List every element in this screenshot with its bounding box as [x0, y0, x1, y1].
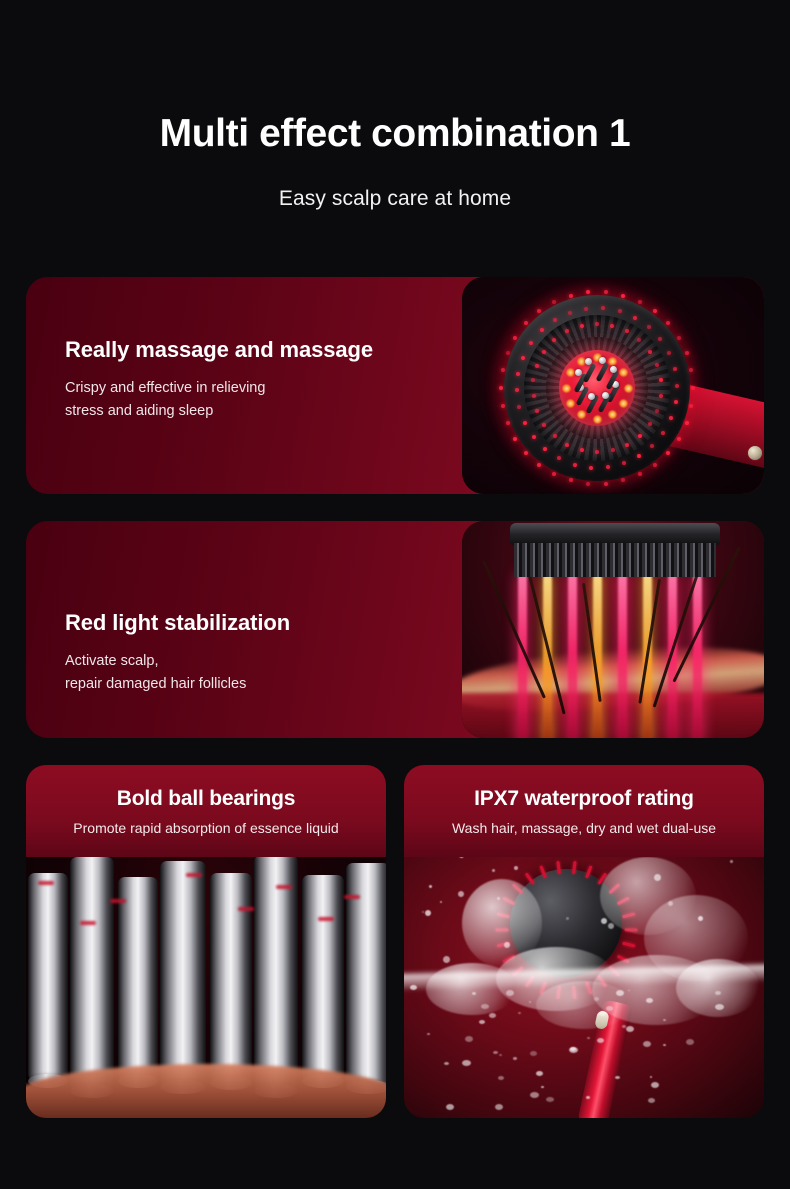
- device-end-cap: [747, 445, 763, 461]
- bristle-dot: [580, 324, 584, 328]
- page-subtitle: Easy scalp care at home: [0, 187, 790, 211]
- water-droplet: [530, 1051, 537, 1056]
- bristle-dot: [540, 328, 544, 332]
- bristle-dot: [542, 423, 546, 427]
- water-droplet-airborne: [497, 897, 500, 900]
- feature-card-redlight-text: Red light stabilization Activate scalp, …: [65, 610, 290, 697]
- beam-scene: [462, 521, 764, 738]
- water-droplet: [606, 1006, 613, 1011]
- water-droplet: [536, 1071, 543, 1076]
- led-light: [608, 357, 617, 366]
- water-droplet: [626, 1026, 634, 1032]
- bristle-dot: [580, 448, 584, 452]
- feature-card-ipx7-header: IPX7 waterproof rating Wash hair, massag…: [404, 765, 764, 857]
- bristle-dot: [677, 437, 681, 441]
- bristle-dot: [610, 324, 614, 328]
- water-droplet-airborne: [440, 901, 442, 903]
- bristle-dot: [675, 384, 679, 388]
- ball-bearing: [599, 357, 606, 364]
- bristle-dot: [611, 448, 615, 452]
- red-light-spark: [344, 895, 360, 899]
- bristle-dot: [648, 350, 652, 354]
- feature-card-bearings: Bold ball bearings Promote rapid absorpt…: [26, 765, 386, 1118]
- water-droplet: [597, 1038, 604, 1043]
- bristle-dot: [523, 421, 527, 425]
- water-droplet: [587, 1037, 590, 1039]
- bristle-dot: [685, 421, 689, 425]
- bristle-dot: [673, 367, 677, 371]
- feature-card-ipx7-body: Wash hair, massage, dry and wet dual-use: [404, 820, 764, 836]
- water-droplet: [616, 990, 624, 996]
- feature-card-bearings-body: Promote rapid absorption of essence liqu…: [26, 820, 386, 836]
- bristle-dot: [655, 363, 659, 367]
- bearing-cylinder: [210, 873, 252, 1085]
- scalp-skin-surface: [26, 1064, 386, 1118]
- bristle-dot: [659, 378, 663, 382]
- water-droplet: [628, 990, 630, 991]
- bristle-dot: [521, 356, 525, 360]
- water-droplet: [646, 998, 653, 1003]
- feature-card-massage-text: Really massage and massage Crispy and ef…: [65, 337, 373, 424]
- feature-card-ipx7-title: IPX7 waterproof rating: [404, 787, 764, 811]
- water-droplet: [546, 1097, 554, 1102]
- feature-card-bearings-title: Bold ball bearings: [26, 787, 386, 811]
- red-light-spark: [80, 921, 96, 925]
- bristle-dot: [506, 351, 510, 355]
- bearing-cylinder: [70, 857, 114, 1093]
- bearing-cylinder: [302, 875, 344, 1083]
- bristle-dot: [532, 435, 536, 439]
- comb-teeth: [514, 543, 716, 577]
- water-droplet-airborne: [492, 869, 495, 872]
- chrome-scene: [26, 851, 386, 1118]
- water-droplet: [498, 1076, 504, 1080]
- bristle-dot: [513, 336, 517, 340]
- bristle-dot: [529, 341, 533, 345]
- massager-scene: [462, 277, 764, 494]
- red-light-spark: [276, 885, 292, 889]
- red-light-spark: [186, 873, 202, 877]
- light-beam: [568, 573, 577, 738]
- product-feature-page: Multi effect combination 1 Easy scalp ca…: [0, 0, 790, 1189]
- water-droplet: [479, 1020, 485, 1024]
- bristle-dot: [535, 364, 539, 368]
- bristle-dot: [618, 309, 622, 313]
- water-droplet: [493, 1051, 498, 1054]
- bristle-dot: [638, 472, 642, 476]
- bristle-dot: [568, 311, 572, 315]
- water-droplet-airborne: [429, 885, 432, 888]
- water-droplet-airborne: [654, 874, 661, 881]
- led-light: [624, 384, 633, 393]
- bristle-dot: [532, 394, 536, 398]
- water-droplet: [444, 1062, 449, 1065]
- bristle-dot: [553, 434, 557, 438]
- chrome-bearings-photo: [26, 851, 386, 1118]
- water-droplet: [594, 997, 599, 1001]
- bristle-dot: [499, 386, 503, 390]
- page-header: Multi effect combination 1 Easy scalp ca…: [0, 0, 790, 211]
- bristle-dot: [542, 350, 546, 354]
- splash-scene: [404, 851, 764, 1118]
- bristle-dot: [569, 294, 573, 298]
- water-droplet: [506, 990, 514, 996]
- water-droplet: [446, 1104, 454, 1110]
- led-light: [566, 368, 575, 377]
- water-droplet: [615, 1076, 620, 1079]
- bristle-dot: [638, 434, 642, 438]
- bristle-dot: [647, 325, 651, 329]
- bristle-dot: [604, 482, 608, 486]
- light-beam: [693, 573, 702, 738]
- bearing-cylinder: [160, 861, 206, 1089]
- light-beam: [618, 573, 627, 738]
- water-droplet-airborne: [730, 860, 733, 863]
- water-droplet: [481, 1004, 489, 1009]
- water-droplet: [465, 1036, 473, 1042]
- bristle-dot: [653, 463, 657, 467]
- feature-card-massage-body: Crispy and effective in relieving stress…: [65, 377, 373, 424]
- water-droplet: [489, 1013, 496, 1018]
- bristle-dot: [655, 409, 659, 413]
- bristle-dot: [638, 300, 642, 304]
- water-droplet-airborne: [458, 891, 464, 897]
- water-droplet: [648, 1098, 655, 1103]
- water-droplet: [686, 1039, 694, 1045]
- water-splash: [536, 981, 632, 1029]
- water-droplet-airborne: [668, 901, 673, 906]
- water-droplet: [541, 1086, 544, 1088]
- led-light: [593, 415, 602, 424]
- led-light: [562, 384, 571, 393]
- bristle-dot: [625, 329, 629, 333]
- massager-head-photo: [462, 277, 764, 494]
- water-droplet-airborne: [504, 942, 510, 948]
- bristle-dot: [573, 463, 577, 467]
- water-droplet: [570, 1047, 576, 1051]
- water-droplet: [529, 1001, 531, 1003]
- feature-card-ipx7: IPX7 waterproof rating Wash hair, massag…: [404, 765, 764, 1118]
- water-droplet: [518, 1012, 521, 1014]
- red-light-spark: [318, 917, 334, 921]
- water-droplet: [495, 1104, 503, 1110]
- water-droplet: [462, 1060, 471, 1066]
- bristle-dot: [506, 421, 510, 425]
- red-light-spark: [38, 881, 54, 885]
- bristle-dot: [677, 336, 681, 340]
- bristle-dot: [625, 443, 629, 447]
- bristle-dot: [691, 386, 695, 390]
- head-bristle: [622, 942, 635, 948]
- water-droplet-airborne: [422, 911, 424, 913]
- bristle-dot: [553, 318, 557, 322]
- red-light-spark: [238, 907, 254, 911]
- water-droplet-airborne: [566, 917, 569, 920]
- bristle-dot: [524, 451, 528, 455]
- scalp-base: [462, 693, 764, 738]
- water-droplet: [513, 1057, 517, 1060]
- bearing-cylinder: [28, 873, 68, 1083]
- bristle-dot: [535, 409, 539, 413]
- bristle-dot: [589, 466, 593, 470]
- water-droplet: [586, 1096, 590, 1099]
- bristle-dot: [537, 463, 541, 467]
- water-droplet: [643, 1041, 651, 1047]
- water-splash-photo: [404, 851, 764, 1118]
- bristle-dot: [633, 316, 637, 320]
- ball-bearing: [585, 358, 592, 365]
- bristle-dot: [595, 322, 599, 326]
- feature-card-bearings-header: Bold ball bearings Promote rapid absorpt…: [26, 765, 386, 857]
- page-title: Multi effect combination 1: [0, 112, 790, 156]
- water-droplet-airborne: [601, 918, 607, 924]
- feature-card-massage-title: Really massage and massage: [65, 337, 373, 363]
- water-droplet: [715, 1004, 724, 1010]
- comb-base: [510, 523, 720, 545]
- water-droplet: [651, 1082, 659, 1088]
- bearing-cylinder: [254, 855, 298, 1093]
- water-droplet: [472, 992, 476, 995]
- water-droplet-airborne: [443, 956, 450, 963]
- water-droplet-airborne: [698, 916, 703, 921]
- water-droplet: [715, 991, 721, 995]
- bearing-cylinder: [118, 877, 158, 1083]
- bristle-dot: [659, 394, 663, 398]
- feature-card-massage: Really massage and massage Crispy and ef…: [26, 277, 764, 494]
- water-droplet: [650, 1076, 652, 1078]
- water-droplet: [663, 1019, 666, 1021]
- water-droplet: [427, 1033, 430, 1035]
- bristle-dot: [501, 404, 505, 408]
- feature-card-redlight-title: Red light stabilization: [65, 610, 290, 636]
- bristle-dot: [586, 482, 590, 486]
- bristle-dot: [666, 451, 670, 455]
- water-droplet-airborne: [514, 866, 518, 870]
- water-droplet-airborne: [425, 910, 431, 916]
- led-light: [566, 399, 575, 408]
- feature-card-redlight-body: Activate scalp, repair damaged hair foll…: [65, 650, 290, 697]
- bristle-dot: [648, 422, 652, 426]
- water-droplet: [530, 1092, 539, 1098]
- red-light-beams-photo: [462, 521, 764, 738]
- water-droplet: [599, 1011, 606, 1016]
- bristle-dot: [513, 437, 517, 441]
- bristle-dot: [685, 351, 689, 355]
- water-droplet-airborne: [608, 923, 614, 929]
- water-droplet: [663, 1044, 666, 1046]
- water-droplet: [499, 1054, 502, 1056]
- feature-card-redlight: Red light stabilization Activate scalp, …: [26, 521, 764, 738]
- red-light-spark: [110, 899, 126, 903]
